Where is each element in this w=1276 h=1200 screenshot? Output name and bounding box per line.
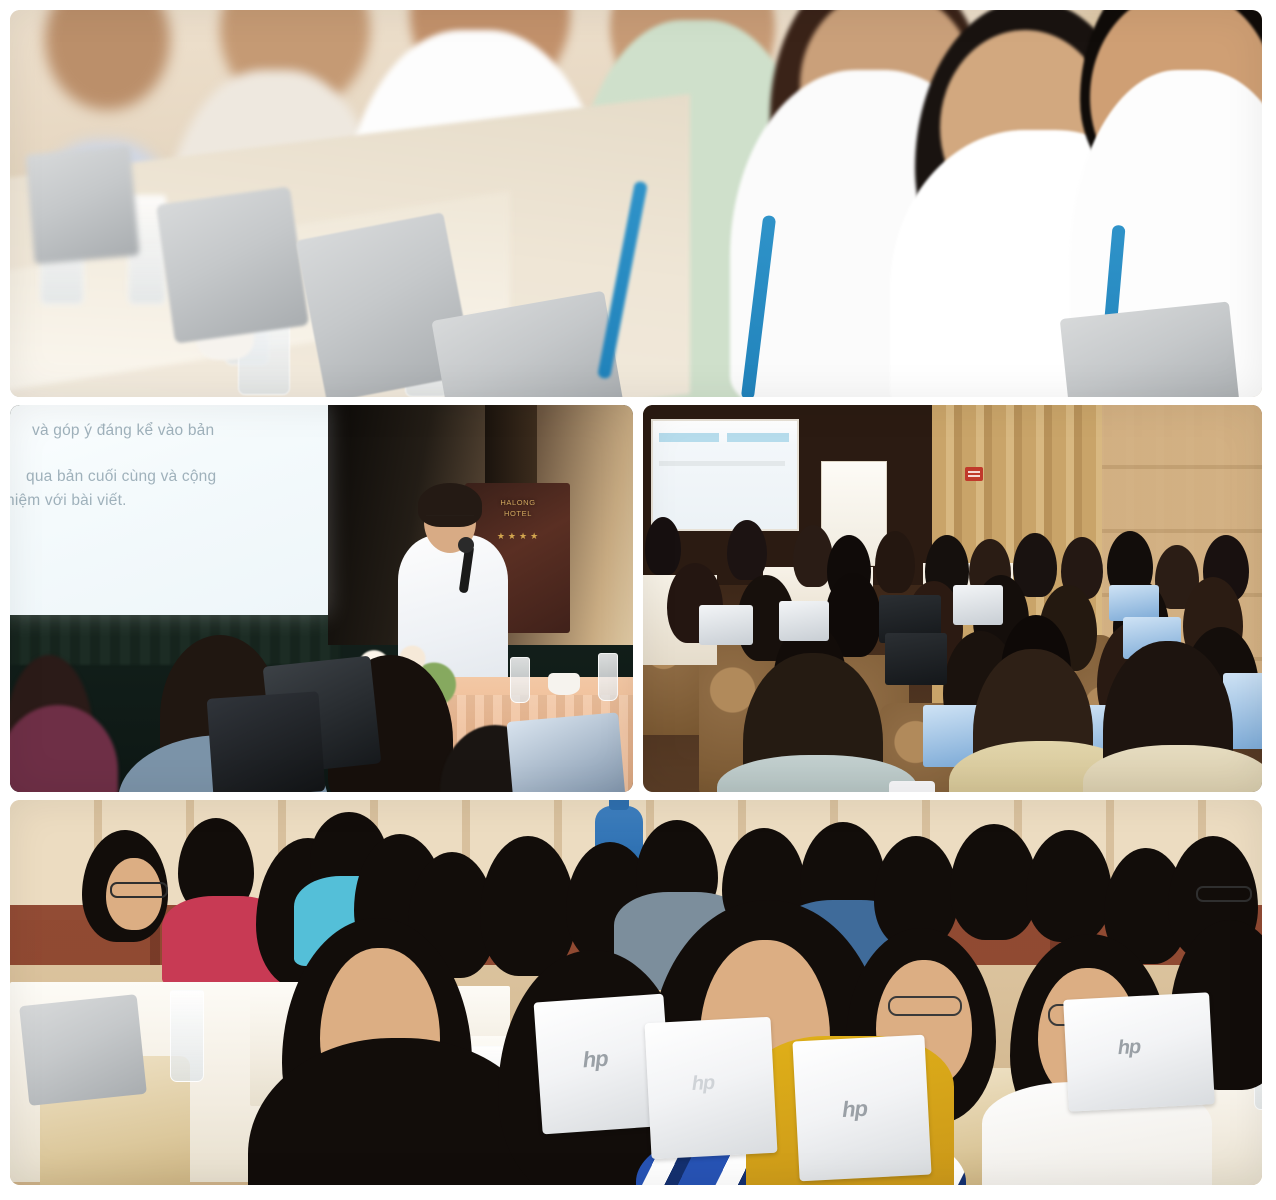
eyeglasses-icon bbox=[110, 882, 168, 898]
hp-laptop: hp bbox=[792, 1035, 931, 1182]
eyeglasses-icon bbox=[426, 515, 474, 526]
laptop bbox=[19, 994, 147, 1106]
projection-screen bbox=[651, 419, 799, 531]
laptop bbox=[779, 601, 829, 641]
laptop bbox=[699, 605, 753, 645]
laptop bbox=[506, 712, 625, 792]
podium-sign-line-2: HOTEL bbox=[475, 508, 561, 519]
podium-sign-line-1: HALONG bbox=[475, 497, 561, 508]
hp-logo: hp bbox=[691, 1072, 715, 1096]
coffee-cup bbox=[548, 673, 580, 695]
projection-screen: và góp ý đáng kể vào bản qua bản cuối cù… bbox=[10, 405, 328, 615]
eyeglasses-icon bbox=[888, 996, 962, 1016]
exit-sign-icon bbox=[965, 467, 983, 481]
hp-logo: hp bbox=[582, 1046, 609, 1074]
photo-collage: và góp ý đáng kể vào bản qua bản cuối cù… bbox=[0, 0, 1276, 1200]
eyeglasses-icon bbox=[1196, 886, 1252, 902]
audience-head bbox=[875, 531, 915, 593]
podium-stars: ★★★★ bbox=[479, 531, 559, 542]
slide-line-3: niệm với bài viết. bbox=[10, 489, 314, 513]
laptop bbox=[156, 186, 309, 343]
audience-head bbox=[645, 517, 681, 575]
slide-text: và góp ý đáng kể vào bản qua bản cuối cù… bbox=[14, 419, 314, 513]
slide-line-1: và góp ý đáng kể vào bản bbox=[32, 419, 314, 443]
laptop bbox=[1109, 585, 1159, 621]
panel-speaker-presenting-with-microphone: và góp ý đáng kể vào bản qua bản cuối cù… bbox=[10, 405, 633, 792]
laptop bbox=[885, 633, 947, 685]
laptop bbox=[207, 691, 326, 792]
laptop: hp bbox=[1063, 992, 1215, 1111]
hp-logo: hp bbox=[841, 1096, 867, 1123]
laptop bbox=[953, 585, 1003, 625]
hp-logo: hp bbox=[1117, 1036, 1141, 1060]
podium-sign: HALONG HOTEL bbox=[475, 497, 561, 520]
hp-laptop: hp bbox=[645, 1017, 778, 1159]
drinking-glass bbox=[598, 653, 618, 701]
drinking-glass bbox=[510, 657, 530, 703]
laptop bbox=[1060, 301, 1241, 397]
drinking-glass bbox=[170, 990, 204, 1082]
panel-participants-typing-at-long-table bbox=[10, 10, 1262, 397]
smartphone bbox=[889, 781, 935, 792]
slide-line-2: qua bản cuối cùng và cộng bbox=[26, 465, 314, 489]
microphone-head bbox=[458, 537, 474, 553]
panel-audience-from-back-of-room bbox=[643, 405, 1262, 792]
audience-head bbox=[727, 520, 767, 580]
laptop bbox=[25, 146, 139, 265]
panel-seated-audience-with-hp-laptops: hp hp hp hp bbox=[10, 800, 1262, 1185]
